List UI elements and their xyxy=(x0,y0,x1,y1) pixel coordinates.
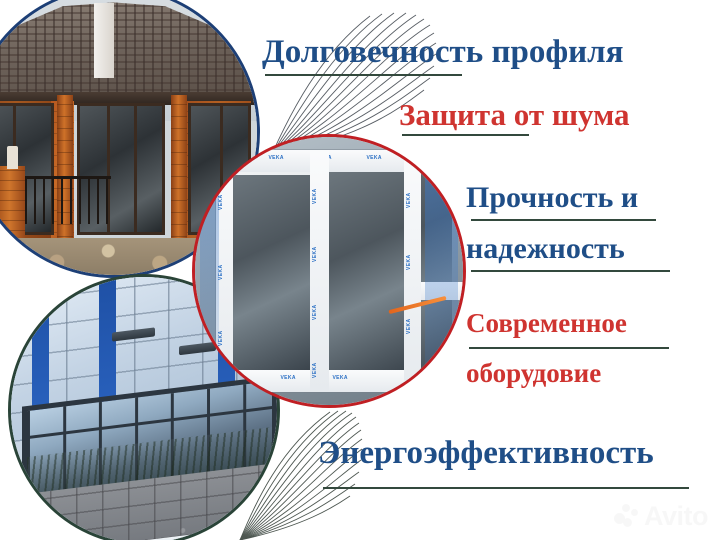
headline-strength-line1: Прочность и xyxy=(466,183,638,214)
corner-post-left xyxy=(57,95,73,249)
headline-rule-2 xyxy=(402,134,529,136)
headline-durability: Долговечность профиля xyxy=(262,36,624,70)
headline-rule-6 xyxy=(323,487,689,489)
advertisement-poster: VEKAVEKAVEKAVEKA VEKAVEKA VEKA VEKA VEKA… xyxy=(0,0,720,540)
headline-rule-5 xyxy=(469,347,669,349)
headline-rule-3 xyxy=(471,219,656,221)
window-glass-right xyxy=(326,172,406,376)
wall-lamp xyxy=(7,146,18,169)
headline-rule-1 xyxy=(265,74,462,76)
headline-energy-efficiency: Энергоэффективность xyxy=(318,437,654,471)
headline-modern-equipment-line2: оборудовие xyxy=(466,360,601,388)
blue-film-wash-left xyxy=(200,164,219,378)
avito-dots-icon xyxy=(614,504,640,530)
roof-ridge xyxy=(94,3,114,77)
headline-noise-protection: Защита от шума xyxy=(399,99,630,131)
frame-stile-right: VEKAVEKAVEKA xyxy=(404,150,421,391)
corner-post-right xyxy=(171,95,187,249)
veka-windows-photo: VEKAVEKAVEKAVEKA VEKAVEKA VEKA VEKA VEKA… xyxy=(192,134,466,408)
window-glass-left xyxy=(230,175,310,373)
avito-watermark: Avito xyxy=(614,501,708,532)
headline-modern-equipment-line1: Современное xyxy=(466,310,627,338)
avito-wordmark: Avito xyxy=(644,501,708,532)
brick-pillar xyxy=(0,166,25,240)
headline-rule-4 xyxy=(471,270,670,272)
blue-film-wash-right xyxy=(425,148,457,395)
frame-mullion: VEKAVEKAVEKAVEKA xyxy=(310,150,329,391)
headline-strength-line2: надежность xyxy=(466,234,625,265)
